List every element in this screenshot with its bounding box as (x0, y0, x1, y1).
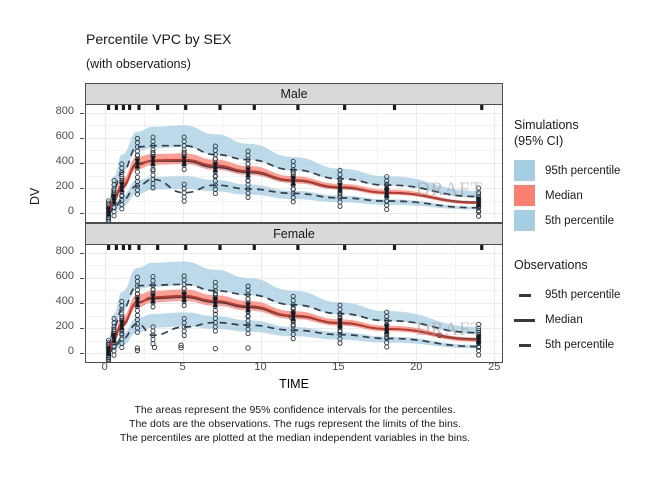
observation-point (291, 200, 295, 204)
observation-point (246, 331, 250, 335)
legend-line-key (514, 294, 535, 297)
observation-point-filled (182, 295, 186, 299)
panel-female: Female DRAFT (85, 223, 503, 363)
legend-simulations: Simulations(95% CI)95th percentileMedian… (514, 118, 620, 233)
observation-point-filled (291, 311, 295, 315)
observation-point-filled (213, 165, 217, 169)
legend-item[interactable]: Median (514, 183, 620, 208)
observation-point-filled (246, 305, 250, 309)
panel-strip-label-female: Female (85, 223, 503, 245)
panel-strip-label-male: Male (85, 83, 503, 105)
observation-point-filled (338, 182, 342, 186)
chart-title: Percentile VPC by SEX (86, 31, 232, 47)
y-tick-mark (80, 213, 84, 214)
y-tick-label: 600 (40, 270, 74, 282)
observation-point-filled (112, 197, 116, 201)
observation-point-filled (112, 339, 116, 343)
observation-point-filled (136, 158, 140, 162)
observation-point (182, 333, 186, 337)
legend-observations: Observations95th percentileMedian5th per… (514, 258, 620, 358)
observation-point (112, 214, 116, 218)
observation-point (112, 353, 116, 357)
caption-line: The percentiles are plotted at the media… (85, 431, 505, 445)
observation-point-filled (182, 292, 186, 296)
observation-point (246, 346, 250, 350)
observation-point-filled (213, 304, 217, 308)
observation-point (120, 207, 124, 211)
observation-point-filled (151, 159, 155, 163)
y-tick-mark (80, 138, 84, 139)
observation-point-filled (338, 321, 342, 325)
observation-point-filled (385, 191, 389, 195)
observation-point (135, 170, 139, 174)
legend-item-label: 95th percentile (545, 289, 620, 301)
y-tick-mark (80, 328, 84, 329)
observation-point-filled (477, 197, 481, 201)
legend-color-swatch (514, 160, 535, 181)
observation-point-filled (477, 337, 481, 341)
observation-point-filled (291, 175, 295, 179)
observation-point-filled (112, 201, 116, 205)
y-tick-label: 400 (40, 295, 74, 307)
observation-point (151, 329, 155, 333)
observation-point (182, 167, 186, 171)
observation-point-filled (151, 162, 155, 166)
observation-point-filled (151, 156, 155, 160)
legend-line-key (514, 319, 535, 322)
y-tick-mark (80, 278, 84, 279)
y-tick-label: 800 (40, 105, 74, 117)
series-layer (86, 245, 502, 362)
observation-point (246, 162, 250, 166)
observation-point (213, 329, 217, 333)
caption-line: The areas represent the 95% confidence i… (85, 403, 505, 417)
observation-point-filled (107, 346, 111, 350)
observation-point-filled (120, 189, 124, 193)
observation-point-filled (291, 182, 295, 186)
observation-point-filled (107, 210, 111, 214)
observation-point-filled (385, 324, 389, 328)
observation-point-filled (338, 325, 342, 329)
observation-point-filled (120, 185, 124, 189)
legend-item[interactable]: 5th percentile (514, 333, 620, 358)
chart-subtitle: (with observations) (86, 57, 191, 71)
observation-point-filled (151, 300, 155, 304)
y-tick-label: 0 (40, 205, 74, 217)
observation-point-filled (291, 314, 295, 318)
observation-point (213, 191, 217, 195)
series-layer (86, 105, 502, 222)
observation-point (135, 313, 139, 317)
observation-point (151, 337, 155, 341)
observation-point-filled (136, 165, 140, 169)
observation-point-filled (246, 167, 250, 171)
observation-point-filled (182, 159, 186, 163)
observation-point-filled (338, 189, 342, 193)
y-tick-label: 200 (40, 320, 74, 332)
observation-point-filled (120, 320, 124, 324)
observation-point-filled (107, 213, 111, 217)
observation-point-filled (477, 204, 481, 208)
observation-point-filled (246, 174, 250, 178)
observation-point-filled (213, 162, 217, 166)
caption-line: The dots are the observations. The rugs … (85, 417, 505, 431)
observation-point (477, 349, 481, 353)
legend-color-swatch (514, 185, 535, 206)
observation-point-filled (107, 353, 111, 357)
observation-point-filled (385, 194, 389, 198)
y-tick-label: 200 (40, 180, 74, 192)
observation-point (135, 309, 139, 313)
observation-point-filled (112, 336, 116, 340)
observation-point-filled (246, 170, 250, 174)
observation-point-filled (477, 200, 481, 204)
y-tick-label: 0 (40, 345, 74, 357)
legend-item-label: Median (545, 190, 583, 202)
observation-point (135, 175, 139, 179)
observation-point-filled (338, 186, 342, 190)
observation-point (477, 322, 481, 326)
y-tick-mark (80, 353, 84, 354)
observation-point-filled (136, 300, 140, 304)
legend-item[interactable]: 5th percentile (514, 208, 620, 233)
x-axis-label: TIME (85, 377, 503, 391)
y-tick-mark (80, 113, 84, 114)
observation-point-filled (338, 318, 342, 322)
observation-point-filled (151, 296, 155, 300)
legend-title-line: Observations (514, 258, 620, 274)
observation-point-filled (213, 297, 217, 301)
y-tick-label: 600 (40, 130, 74, 142)
plot-area-male: DRAFT (85, 105, 503, 223)
y-tick-label: 400 (40, 155, 74, 167)
chart-caption: The areas represent the 95% confidence i… (85, 403, 505, 446)
y-tick-mark (80, 253, 84, 254)
legend-item[interactable]: 95th percentile (514, 158, 620, 183)
observation-point-filled (120, 323, 124, 327)
legend-title-line: Simulations (514, 118, 620, 134)
y-tick-mark (80, 188, 84, 189)
legend-item-label: Median (545, 314, 583, 326)
observation-point (477, 214, 481, 218)
legend-item-label: 5th percentile (545, 339, 614, 351)
observation-point-filled (246, 309, 250, 313)
plot-area-female: DRAFT (85, 245, 503, 363)
observation-point-filled (477, 341, 481, 345)
legend-title: Observations (514, 258, 620, 274)
observation-point-filled (182, 156, 186, 160)
legend-item-label: 95th percentile (545, 165, 620, 177)
observation-point (385, 207, 389, 211)
observation-point-filled (385, 330, 389, 334)
legend-item-label: 5th percentile (545, 215, 614, 227)
observation-point-filled (213, 169, 217, 173)
observation-point-filled (477, 334, 481, 338)
observation-point-filled (151, 293, 155, 297)
observation-point-filled (120, 182, 124, 186)
observation-point (151, 173, 155, 177)
observation-point (120, 345, 124, 349)
observation-point-filled (385, 187, 389, 191)
observation-point-filled (182, 299, 186, 303)
observation-point-filled (291, 179, 295, 183)
observation-point (182, 199, 186, 203)
observation-point-filled (136, 297, 140, 301)
observation-point-filled (385, 327, 389, 331)
y-tick-mark (80, 303, 84, 304)
panel-male: Male DRAFT (85, 83, 503, 223)
observation-point (338, 204, 342, 208)
observation-point (182, 329, 186, 333)
observation-point (182, 191, 186, 195)
observation-point-filled (182, 162, 186, 166)
legend-title: Simulations(95% CI) (514, 118, 620, 149)
observation-point-filled (120, 327, 124, 331)
legend-title-line: (95% CI) (514, 134, 620, 150)
y-tick-label: 800 (40, 245, 74, 257)
observation-point-filled (112, 194, 116, 198)
observation-point-filled (107, 349, 111, 353)
observation-point (213, 346, 217, 350)
legend-item[interactable]: Median (514, 308, 620, 333)
observation-point (291, 337, 295, 341)
observation-point-filled (136, 162, 140, 166)
observation-point (385, 345, 389, 349)
observation-point (246, 195, 250, 199)
observation-point (477, 186, 481, 190)
legend-color-swatch (514, 210, 535, 231)
observation-point (338, 341, 342, 345)
vpc-chart-root: Percentile VPC by SEX (with observations… (0, 0, 672, 480)
observation-point (291, 187, 295, 191)
observation-point-filled (246, 302, 250, 306)
observation-point-filled (291, 318, 295, 322)
observation-point (151, 305, 155, 309)
observation-point-filled (107, 206, 111, 210)
observation-point (246, 297, 250, 301)
observation-point-filled (136, 304, 140, 308)
y-tick-mark (80, 163, 84, 164)
observation-point (477, 353, 481, 357)
observation-point-filled (213, 300, 217, 304)
observation-point (182, 303, 186, 307)
observation-point-filled (112, 332, 116, 336)
observation-point (182, 195, 186, 199)
legend-item[interactable]: 95th percentile (514, 283, 620, 308)
legend-line-key (514, 344, 535, 347)
